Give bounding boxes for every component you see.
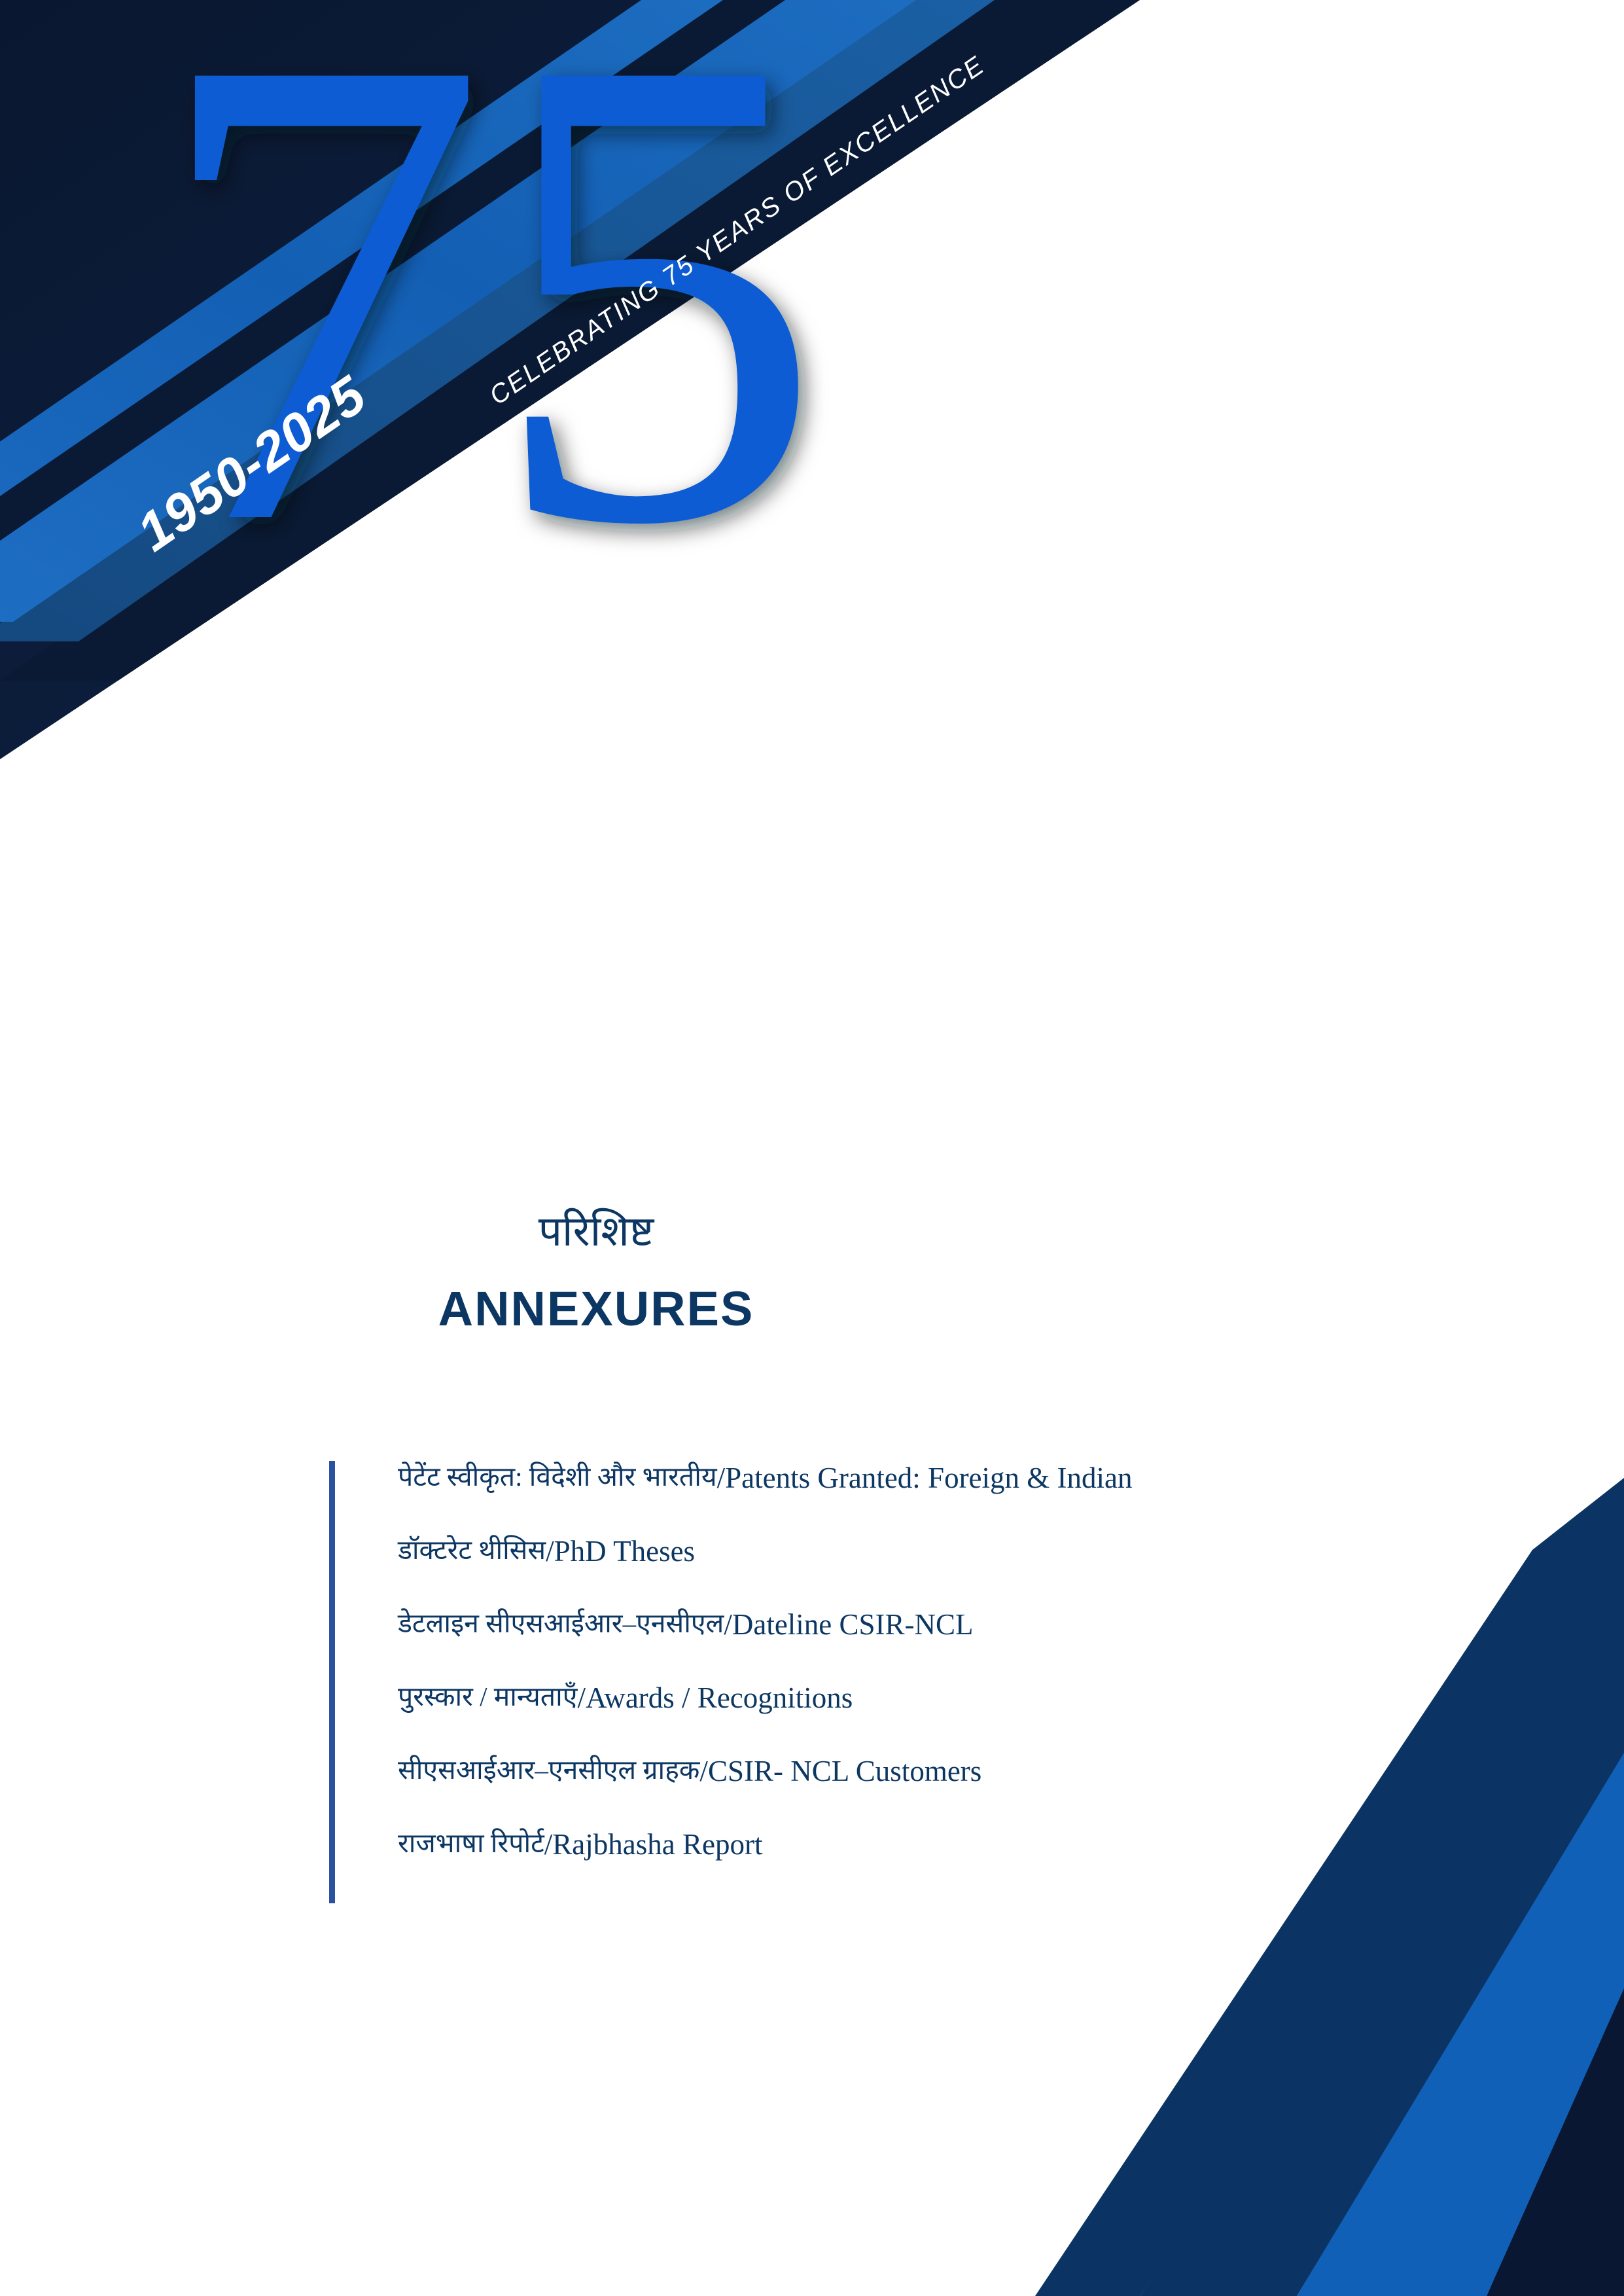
annexure-label-english: PhD Theses xyxy=(554,1537,695,1566)
footer-corner-artwork xyxy=(1035,1478,1624,2296)
page-title-hindi: परिशिष्ट xyxy=(0,1208,1624,1256)
annexure-separator: / xyxy=(544,1830,553,1859)
annexure-separator: / xyxy=(699,1757,708,1786)
annexure-label-english: Rajbhasha Report xyxy=(552,1830,762,1859)
annexure-label-english: CSIR- NCL Customers xyxy=(708,1757,981,1786)
annexure-label-hindi: राजभाषा रिपोर्ट xyxy=(398,1830,544,1857)
logo-number: 75 xyxy=(150,0,824,663)
annexure-label-hindi: डेटलाइन सीएसआईआर–एनसीएल xyxy=(398,1610,724,1637)
annexure-label-hindi: पेटेंट स्वीकृत: विदेशी और भारतीय xyxy=(398,1463,717,1490)
annexure-label-hindi: पुरस्कार / मान्यताएँ xyxy=(398,1683,577,1710)
header-artwork: 75 CELEBRATING 75 YEARS OF EXCELLENCE 19… xyxy=(0,0,1322,949)
annexure-separator: / xyxy=(546,1537,554,1566)
annexure-separator: / xyxy=(717,1463,726,1493)
annexure-separator: / xyxy=(724,1610,732,1640)
annexure-label-hindi: सीएसआईआर–एनसीएल ग्राहक xyxy=(398,1757,699,1784)
annexure-label-hindi: डॉक्टरेट थीसिस xyxy=(398,1537,546,1564)
page-title-block: परिशिष्ट ANNEXURES xyxy=(0,1208,1624,1336)
annexure-label-english: Dateline CSIR-NCL xyxy=(732,1610,974,1640)
page-title-english: ANNEXURES xyxy=(0,1281,1624,1336)
anniversary-75-logo: 75 xyxy=(150,0,824,663)
annexure-label-english: Awards / Recognitions xyxy=(586,1683,853,1713)
annexure-separator: / xyxy=(577,1683,586,1713)
